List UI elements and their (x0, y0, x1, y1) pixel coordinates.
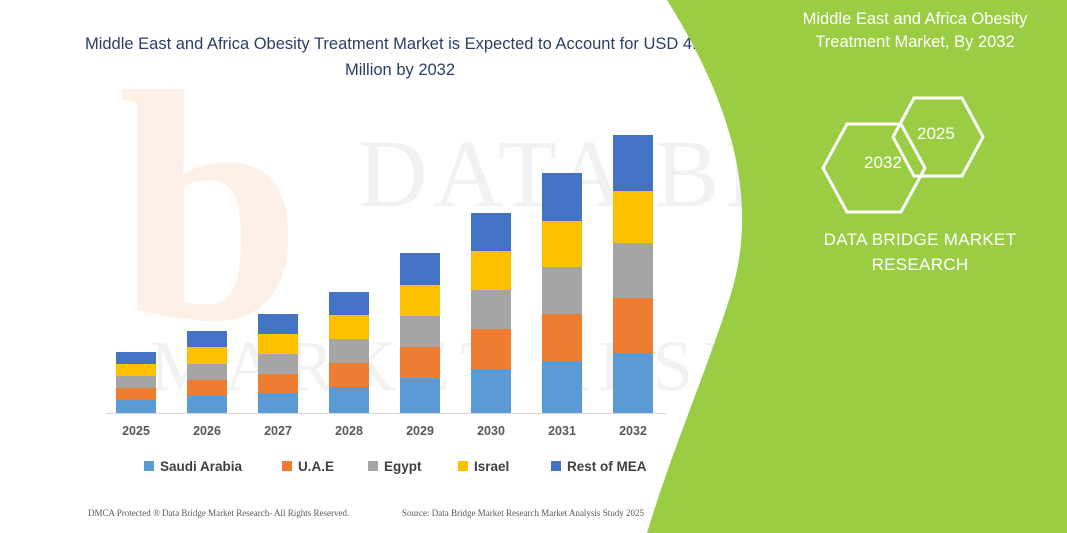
hexagon-2025-label: 2025 (917, 124, 955, 144)
panel-title: Middle East and Africa Obesity Treatment… (775, 8, 1055, 55)
infographic-canvas: b DATA BRIDGE MARKET RESEARCH Middle Eas… (0, 0, 1067, 533)
hexagon-2032-label: 2032 (864, 153, 902, 173)
hexagon-badges: 2032 2025 (820, 95, 1000, 215)
green-panel-content: Middle East and Africa Obesity Treatment… (0, 0, 1067, 533)
brand-name: DATA BRIDGE MARKET RESEARCH (790, 228, 1050, 277)
